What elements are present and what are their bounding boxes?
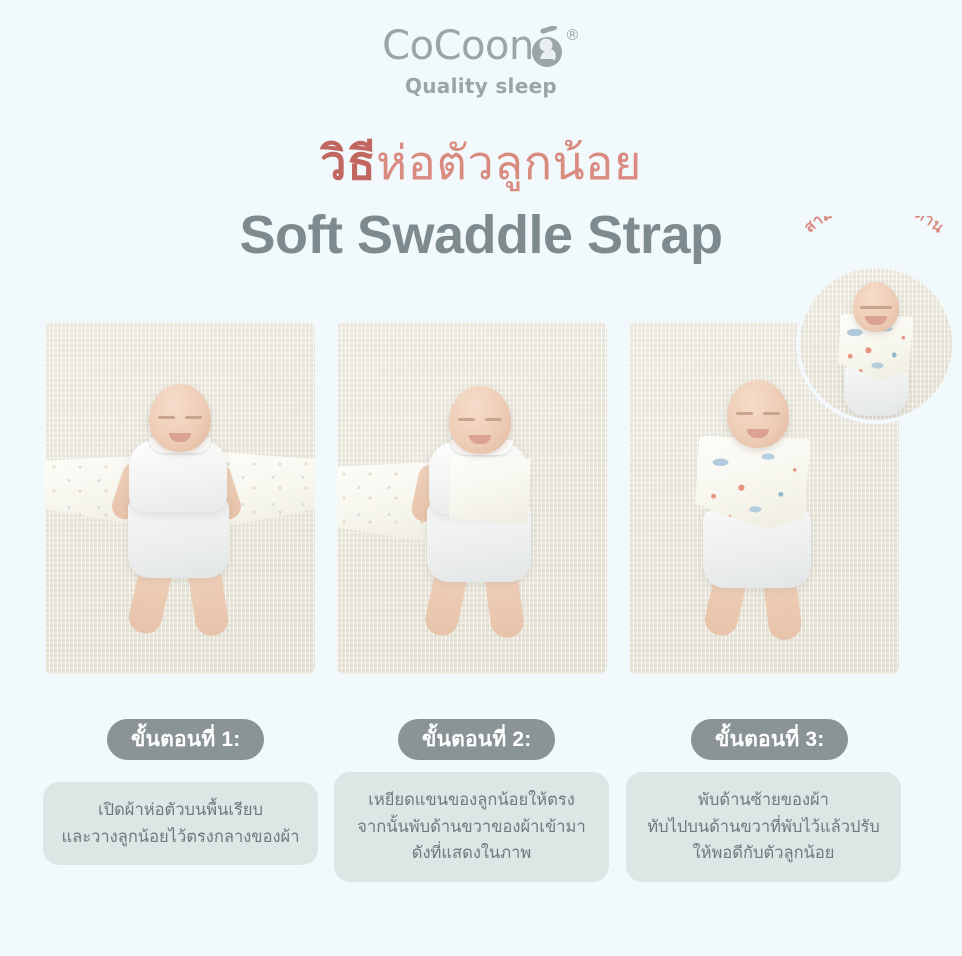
- inset-photo-wrapped-baby: [800, 268, 952, 420]
- headline-thai: วิธีห่อตัวลูกน้อย: [0, 136, 962, 190]
- baby-head: [449, 386, 511, 454]
- swaddle-cloth-folded-over: [449, 456, 531, 524]
- registered-trademark-icon: ®: [565, 28, 580, 43]
- headline-thai-rest: ห่อตัวลูกน้อย: [376, 136, 642, 189]
- photo-step-1: [45, 322, 315, 674]
- brand-logo: CoCoon ® Quality sleep: [0, 26, 962, 98]
- headline-thai-strong: วิธี: [320, 136, 376, 189]
- step-badge-1: ขั้นตอนที่ 1:: [107, 719, 264, 760]
- step-description-3: พับด้านซ้ายของผ้า ทับไปบนด้านขวาที่พับไว…: [626, 772, 901, 882]
- baby-mouth: [747, 429, 769, 438]
- baby-mouth: [169, 433, 191, 442]
- step-description-2: เหยียดแขนของลูกน้อยให้ตรง จากนั้นพับด้าน…: [334, 772, 609, 882]
- photo-step-2: [337, 322, 607, 674]
- baby-mouth: [865, 316, 887, 325]
- page-title: Soft Swaddle Strap: [0, 204, 962, 266]
- baby-figure-wrapped: [800, 268, 952, 420]
- baby-figure: [337, 322, 607, 674]
- step-description-1: เปิดผ้าห่อตัวบนพื้นเรียบ และวางลูกน้อยไว…: [43, 782, 318, 865]
- step-badge-2: ขั้นตอนที่ 2:: [398, 719, 555, 760]
- logo-tagline: Quality sleep: [0, 74, 962, 98]
- logo-wordmark-row: CoCoon ®: [382, 26, 580, 70]
- baby-mouth: [469, 435, 491, 444]
- baby-figure: [45, 322, 315, 674]
- step-badge-3: ขั้นตอนที่ 3:: [691, 719, 848, 760]
- baby-head: [727, 380, 789, 448]
- baby-head: [149, 384, 211, 452]
- baby-head: [853, 282, 899, 332]
- baby-in-circle-icon: [530, 26, 564, 70]
- logo-wordmark: CoCoon: [382, 26, 534, 66]
